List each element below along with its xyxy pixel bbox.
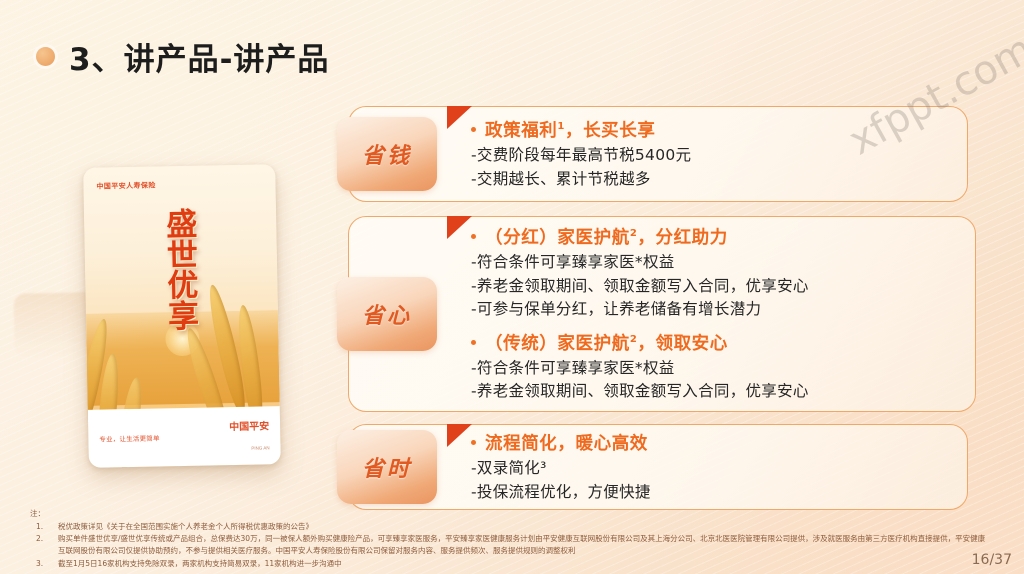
card-body: 流程简化，暖心高效 -双录简化³ -投保流程优化，方便快捷 <box>471 425 957 509</box>
page-number: 16/37 <box>972 552 1012 568</box>
footnote-item: 1. 税优政策详见《关于在全国范围实施个人养老金个人所得税优惠政策的公告》 <box>30 521 990 533</box>
brochure-slogan: 专业，让生活更简单 <box>99 432 159 443</box>
page-title: 3、讲产品-讲产品 <box>36 34 329 79</box>
footnote-text: 税优政策详见《关于在全国范围实施个人养老金个人所得税优惠政策的公告》 <box>58 521 990 533</box>
card-detail-line: -可参与保单分红，让养老储备有增长潜力 <box>471 298 965 322</box>
circle-bullet-icon <box>36 47 55 66</box>
card-heading: 流程简化，暖心高效 <box>485 430 648 455</box>
card-detail-line: -符合条件可享臻享家医*权益 <box>471 251 965 275</box>
card-badge: 省钱 <box>337 117 437 191</box>
card-badge: 省心 <box>337 277 437 351</box>
footnote-text: 购买单件盛世优享/盛世优享传统或产品组合，总保费达30万，同一被保人额外购买健康… <box>58 533 990 557</box>
card-heading-row: （传统）家医护航2，领取安心 <box>471 330 965 355</box>
product-brochure: 中国平安人寿保险 盛世优享 专业，让生活更简单 中国平安 PING AN <box>86 166 278 466</box>
card-block: 流程简化，暖心高效 -双录简化³ -投保流程优化，方便快捷 <box>471 430 957 504</box>
card-heading-row: 流程简化，暖心高效 <box>471 430 957 455</box>
benefit-card-save-time[interactable]: 省时 流程简化，暖心高效 -双录简化³ -投保流程优化，方便快捷 <box>348 424 968 510</box>
brochure-product-name: 盛世优享 <box>159 210 205 334</box>
card-heading-row: （分红）家医护航2，分红助力 <box>471 224 965 249</box>
card-detail-line: -符合条件可享臻享家医*权益 <box>471 357 965 381</box>
slide-root: xfppt.com 3、讲产品-讲产品 中国平安人寿保险 盛世优享 专业，让生活… <box>0 0 1024 574</box>
bullet-dot-icon <box>471 234 476 239</box>
corner-flag-icon <box>447 424 472 447</box>
pingan-logo-cn: 中国平安 <box>229 421 269 433</box>
footnotes: 注： 1. 税优政策详见《关于在全国范围实施个人养老金个人所得税优惠政策的公告》… <box>30 508 990 570</box>
pingan-logo: 中国平安 PING AN <box>229 415 270 456</box>
card-badge-label: 省心 <box>362 298 412 330</box>
brochure-cover: 中国平安人寿保险 盛世优享 专业，让生活更简单 中国平安 PING AN <box>83 164 281 468</box>
card-heading: 政策福利1，长买长享 <box>485 117 655 142</box>
pingan-logo-en: PING AN <box>251 445 269 450</box>
card-badge-label: 省钱 <box>362 138 412 170</box>
footnote-number: 3. <box>30 558 52 570</box>
card-detail-line: -养老金领取期间、领取金额写入合同，优享安心 <box>471 380 965 404</box>
brochure-company-label: 中国平安人寿保险 <box>96 180 155 191</box>
card-heading: （分红）家医护航2，分红助力 <box>485 224 728 249</box>
card-detail-line: -双录简化³ <box>471 457 957 481</box>
card-badge: 省时 <box>337 430 437 504</box>
card-block: （分红）家医护航2，分红助力 -符合条件可享臻享家医*权益 -养老金领取期间、领… <box>471 224 965 322</box>
corner-flag-icon <box>447 106 472 129</box>
card-badge-label: 省时 <box>362 451 412 483</box>
footnote-number: 1. <box>30 521 52 533</box>
footnote-item: 3. 截至1月5日16家机构支持免除双录，两家机构支持简易双录，11家机构进一步… <box>30 558 990 570</box>
bullet-dot-icon <box>471 127 476 132</box>
footnote-item: 2. 购买单件盛世优享/盛世优享传统或产品组合，总保费达30万，同一被保人额外购… <box>30 533 990 557</box>
footnote-number: 2. <box>30 533 52 545</box>
card-detail-line: -交期越长、累计节税越多 <box>471 168 957 192</box>
corner-flag-icon <box>447 216 472 239</box>
card-detail-line: -投保流程优化，方便快捷 <box>471 481 957 505</box>
bullet-dot-icon <box>471 340 476 345</box>
card-body: （分红）家医护航2，分红助力 -符合条件可享臻享家医*权益 -养老金领取期间、领… <box>471 217 965 411</box>
footnotes-label: 注： <box>30 508 990 520</box>
bullet-dot-icon <box>471 440 476 445</box>
card-heading: （传统）家医护航2，领取安心 <box>485 330 728 355</box>
footnote-text: 截至1月5日16家机构支持免除双录，两家机构支持简易双录，11家机构进一步沟通中 <box>58 558 990 570</box>
card-detail-line: -养老金领取期间、领取金额写入合同，优享安心 <box>471 275 965 299</box>
benefit-card-peace-of-mind[interactable]: 省心 （分红）家医护航2，分红助力 -符合条件可享臻享家医*权益 -养老金领取期… <box>348 216 976 412</box>
brochure-footer: 专业，让生活更简单 中国平安 PING AN <box>88 406 281 468</box>
card-block: （传统）家医护航2，领取安心 -符合条件可享臻享家医*权益 -养老金领取期间、领… <box>471 330 965 404</box>
page-title-text: 3、讲产品-讲产品 <box>69 34 329 79</box>
